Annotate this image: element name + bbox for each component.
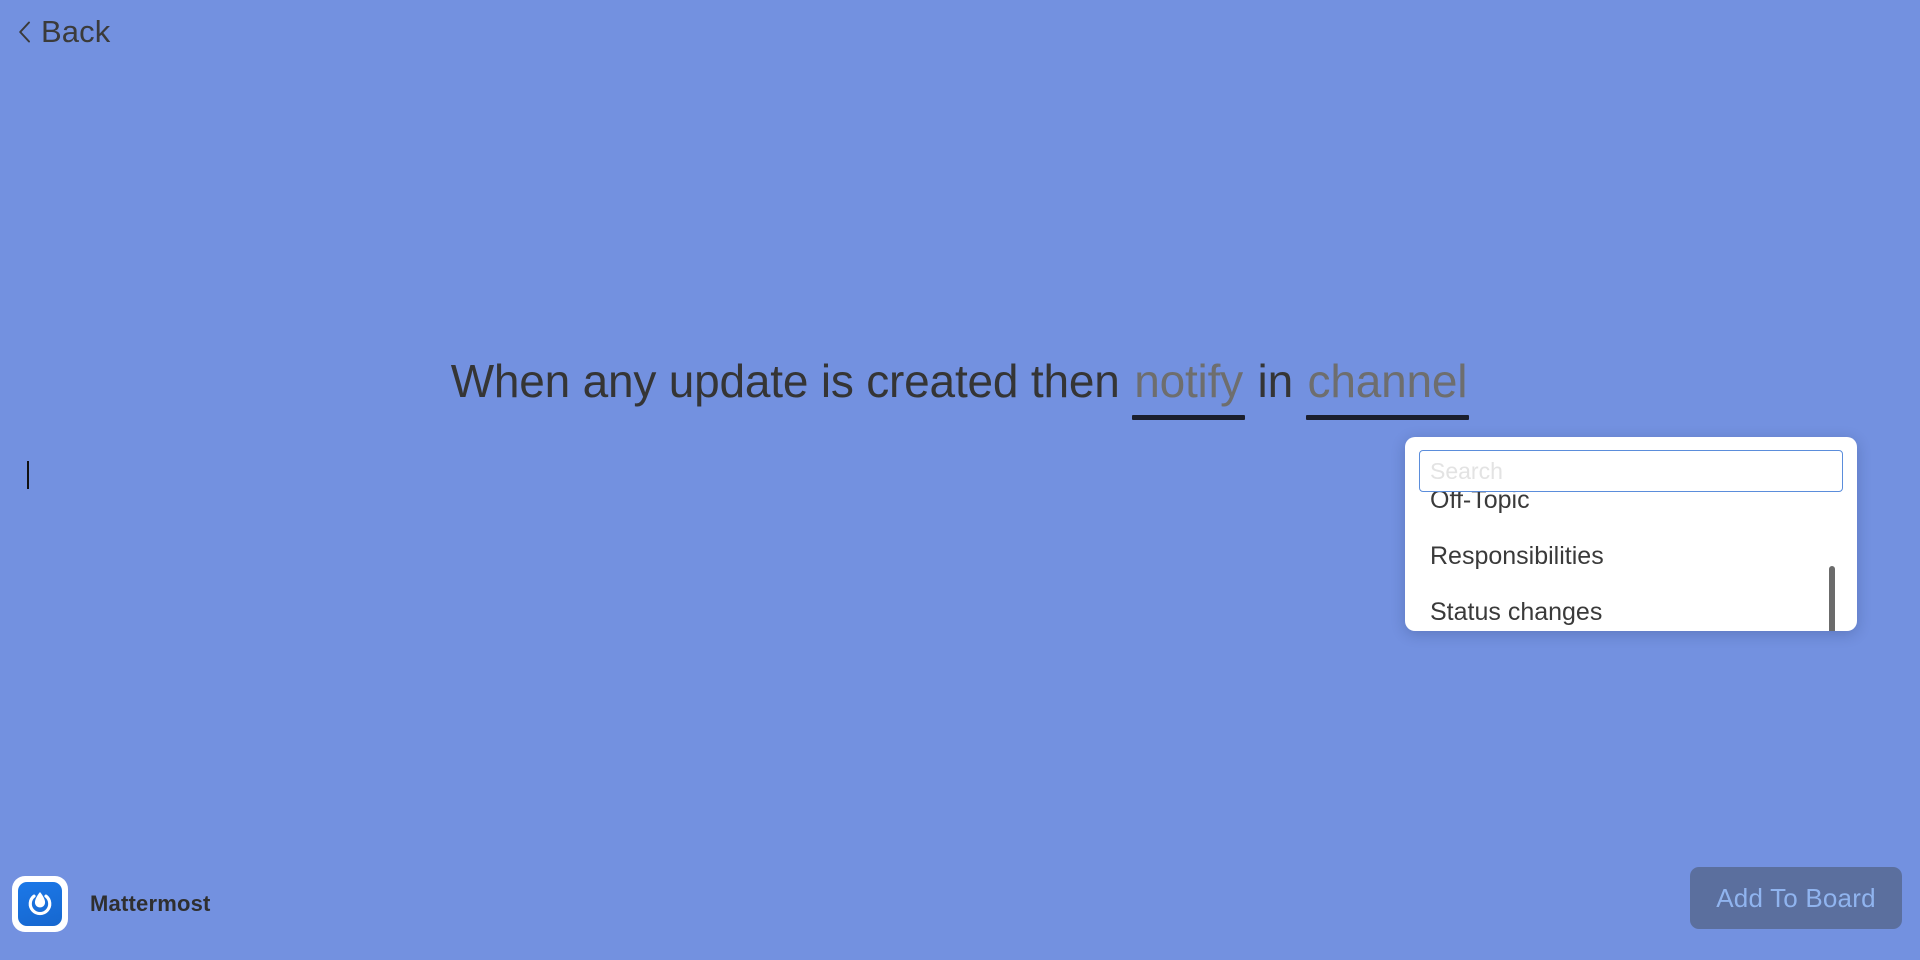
channel-option-list[interactable]: Off-Topic Responsibilities Status change…	[1419, 492, 1843, 631]
brand-footer: Mattermost	[12, 876, 211, 932]
sentence-part-one: When any update is created then	[451, 355, 1120, 407]
vertical-scrollbar[interactable]	[1829, 566, 1835, 631]
back-button[interactable]: Back	[8, 12, 120, 51]
channel-option-scroll-content: Off-Topic Responsibilities Status change…	[1419, 492, 1843, 631]
add-to-board-button[interactable]: Add To Board	[1690, 867, 1902, 929]
channel-picker-dropdown: Off-Topic Responsibilities Status change…	[1405, 437, 1857, 631]
list-item[interactable]: Status changes	[1419, 584, 1827, 631]
rule-sentence: When any update is created then notify i…	[0, 352, 1920, 410]
chevron-left-icon	[18, 21, 31, 43]
sentence-part-two: in	[1258, 355, 1293, 407]
list-item[interactable]: Responsibilities	[1419, 528, 1827, 584]
trigger-action-token[interactable]: notify	[1132, 352, 1245, 410]
list-item[interactable]: Off-Topic	[1419, 492, 1827, 528]
brand-name: Mattermost	[90, 891, 211, 917]
automation-rule-screen: Back When any update is created then not…	[0, 0, 1920, 960]
mattermost-logo-icon	[12, 876, 68, 932]
back-label: Back	[41, 16, 110, 47]
mattermost-logo-tile	[18, 882, 62, 926]
text-cursor	[27, 461, 29, 489]
search-input[interactable]	[1419, 450, 1843, 492]
channel-target-token[interactable]: channel	[1306, 352, 1470, 410]
